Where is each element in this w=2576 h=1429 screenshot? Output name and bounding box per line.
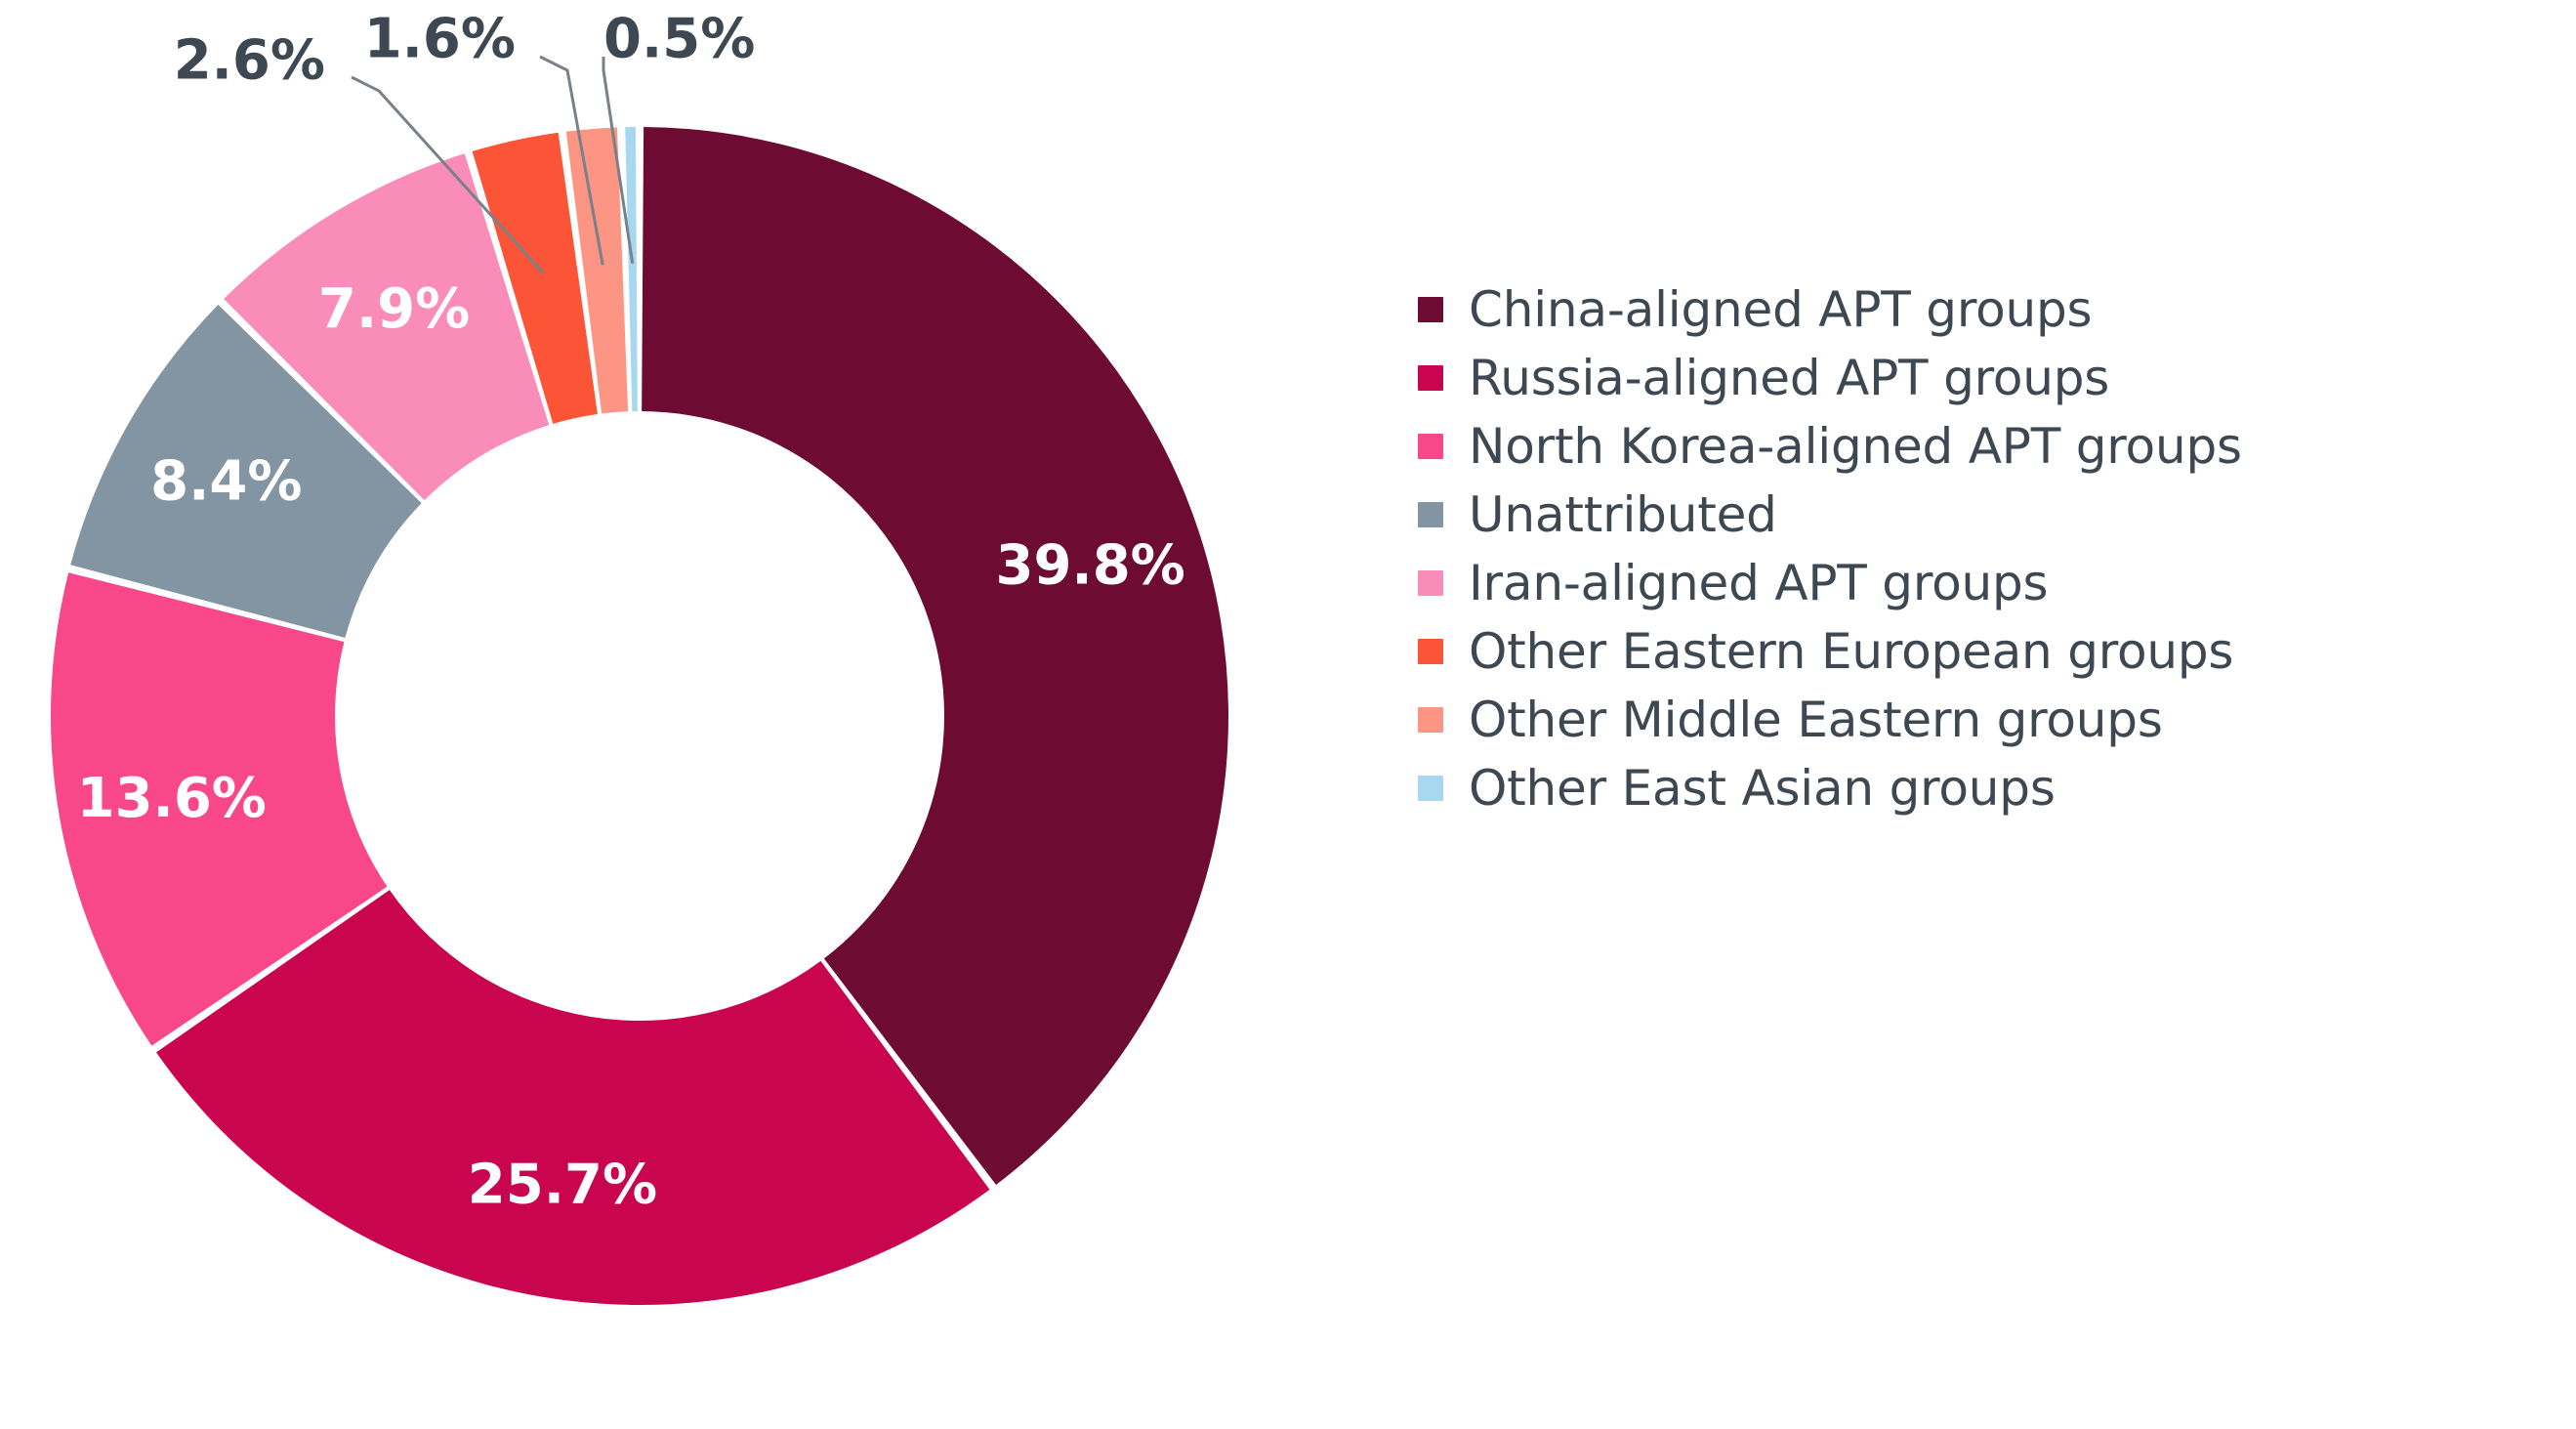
legend-swatch-icon [1418,776,1443,801]
donut-slices [51,127,1228,1305]
legend-item-label: Other Eastern European groups [1469,627,2233,676]
legend-item[interactable]: North Korea-aligned APT groups [1418,412,2512,481]
legend-swatch-icon [1418,365,1443,391]
legend-item-label: North Korea-aligned APT groups [1469,422,2242,471]
donut-slice[interactable] [625,127,638,411]
legend-swatch-icon [1418,502,1443,527]
legend-item-label: Iran-aligned APT groups [1469,559,2048,608]
chart-legend: China-aligned APT groupsRussia-aligned A… [1418,275,2512,822]
legend-item[interactable]: Other Eastern European groups [1418,617,2512,686]
callout-value-label: 0.5% [603,8,755,71]
legend-item[interactable]: Russia-aligned APT groups [1418,344,2512,412]
donut-chart-svg: 39.8%25.7%13.6%8.4%7.9% 2.6%1.6%0.5% [0,0,1367,1429]
legend-item[interactable]: Unattributed [1418,481,2512,549]
legend-item-label: Other Middle Eastern groups [1469,695,2163,744]
slice-value-label: 13.6% [77,767,267,830]
slice-value-label: 25.7% [468,1154,657,1217]
legend-item-label: Other East Asian groups [1469,764,2056,813]
slice-value-label: 8.4% [150,449,302,513]
legend-item[interactable]: Other Middle Eastern groups [1418,686,2512,754]
callout-value-labels: 2.6%1.6%0.5% [174,8,756,93]
legend-item-label: Russia-aligned APT groups [1469,354,2109,402]
slice-value-label: 7.9% [318,277,470,341]
legend-item[interactable]: Iran-aligned APT groups [1418,549,2512,617]
legend-item-label: Unattributed [1469,490,1777,539]
legend-swatch-icon [1418,434,1443,459]
slice-value-label: 39.8% [995,534,1184,598]
callout-value-label: 2.6% [174,29,325,93]
legend-swatch-icon [1418,707,1443,733]
legend-swatch-icon [1418,570,1443,596]
donut-chart: 39.8%25.7%13.6%8.4%7.9% 2.6%1.6%0.5% [0,0,1367,1429]
legend-swatch-icon [1418,297,1443,322]
legend-item[interactable]: China-aligned APT groups [1418,275,2512,344]
callout-value-label: 1.6% [364,8,516,71]
chart-page: 39.8%25.7%13.6%8.4%7.9% 2.6%1.6%0.5% Chi… [0,0,2576,1429]
legend-swatch-icon [1418,639,1443,664]
legend-item-label: China-aligned APT groups [1469,285,2092,334]
legend-item[interactable]: Other East Asian groups [1418,754,2512,822]
